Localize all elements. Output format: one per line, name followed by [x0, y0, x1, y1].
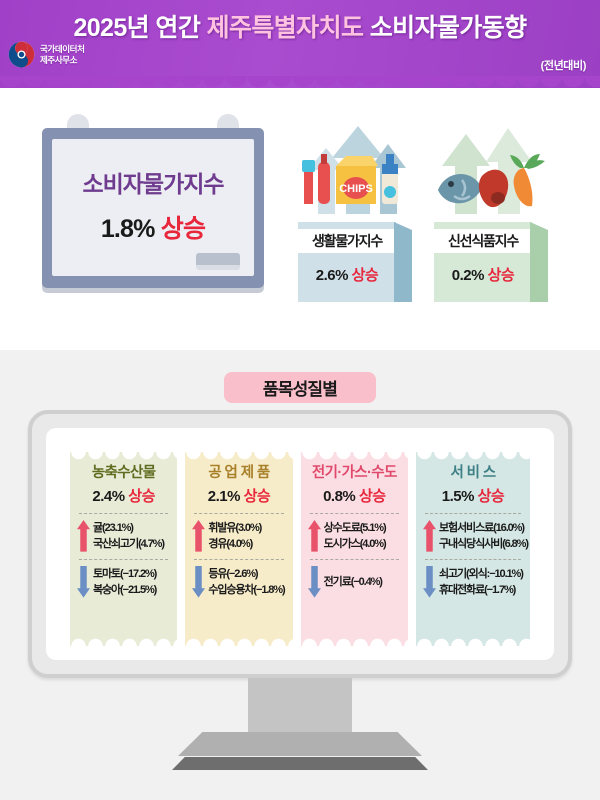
ticket-item-down: 수입승용차(−1.8%)	[208, 582, 287, 598]
page-title: 2025년 연간 제주특별자치도 소비자물가동향	[0, 8, 600, 44]
ticket-divider	[310, 559, 399, 560]
agency-office: 제주사무소	[40, 55, 85, 66]
arrow-down-icon	[423, 566, 436, 598]
monitor-base-top	[178, 732, 422, 756]
fresh-food-index-card: 신선식품지수 0.2% 상승	[432, 122, 550, 302]
arrow-up-icon	[192, 520, 205, 552]
ticket-title: 서 비 스	[421, 464, 525, 482]
living-price-bag: 생활물가지수 2.6% 상승	[298, 222, 412, 302]
ticket-value: 2.4%	[92, 488, 124, 505]
ticket-down-group: 쇠고기(외식:−10.1%)휴대전화료(−1.7%)	[421, 566, 525, 598]
infographic-page: 2025년 연간 제주특별자치도 소비자물가동향 국가데이터처 제주사무소 (전…	[0, 0, 600, 800]
ticket-direction: 상승	[359, 488, 386, 505]
ticket-title: 공 업 제 품	[190, 464, 287, 482]
ticket-down-items: 등유(−2.6%)수입승용차(−1.8%)	[208, 566, 287, 598]
ticket-item-down: 쇠고기(외식:−10.1%)	[439, 566, 525, 582]
ticket-down-items: 쇠고기(외식:−10.1%)휴대전화료(−1.7%)	[439, 566, 525, 598]
ticket-item-up: 상수도료(5.1%)	[324, 520, 403, 536]
ticket-direction: 상승	[478, 488, 505, 505]
ticket-value: 0.8%	[323, 488, 355, 505]
ticket-card: 서 비 스1.5% 상승보험서비스료(16.0%)구내식당식사비(6.8%)쇠고…	[416, 452, 530, 646]
ticket-down-group: 전기료(−0.4%)	[306, 566, 403, 598]
ticket-divider	[194, 513, 283, 514]
household-goods-icon: CHIPS	[296, 146, 414, 228]
ticket-item-up: 국산쇠고기(4.7%)	[93, 536, 172, 552]
living-price-label: 생활물가지수	[298, 229, 396, 253]
whiteboard-frame: 소비자물가지수 1.8% 상승	[42, 128, 264, 288]
ticket-item-down: 토마토(−17.2%)	[93, 566, 172, 582]
fresh-food-icon	[432, 146, 550, 228]
ticket-divider	[79, 513, 168, 514]
ticket-title: 농축수산물	[75, 464, 172, 482]
cpi-value-row: 1.8% 상승	[52, 209, 254, 245]
ticket-divider	[425, 559, 521, 560]
ticket-card: 농축수산물2.4% 상승귤(23.1%)국산쇠고기(4.7%)토마토(−17.2…	[70, 452, 177, 646]
arrow-up-icon	[77, 520, 90, 552]
ticket-up-items: 귤(23.1%)국산쇠고기(4.7%)	[93, 520, 172, 552]
ticket-up-items: 상수도료(5.1%)도시가스(4.0%)	[324, 520, 403, 552]
fresh-food-value-row: 0.2% 상승	[434, 264, 532, 285]
living-price-direction: 상승	[352, 267, 379, 284]
ticket-up-group: 상수도료(5.1%)도시가스(4.0%)	[306, 520, 403, 552]
living-price-bag-side	[394, 222, 412, 302]
ticket-card: 전기·가스·수도0.8% 상승상수도료(5.1%)도시가스(4.0%)전기료(−…	[301, 452, 408, 646]
ticket-item-down: 등유(−2.6%)	[208, 566, 287, 582]
ticket-divider	[310, 513, 399, 514]
cpi-whiteboard: 소비자물가지수 1.8% 상승	[42, 114, 264, 302]
arrow-up-icon	[423, 520, 436, 552]
living-price-index-card: CHIPS 생활물가지수 2.6% 상승	[296, 122, 414, 302]
comparison-note: (전년대비)	[541, 57, 586, 73]
arrow-up-icon	[308, 520, 321, 552]
svg-text:CHIPS: CHIPS	[339, 183, 373, 195]
ticket-divider	[425, 513, 521, 514]
page-header: 2025년 연간 제주특별자치도 소비자물가동향 국가데이터처 제주사무소 (전…	[0, 0, 600, 88]
ticket-item-up: 도시가스(4.0%)	[324, 536, 403, 552]
fresh-food-direction: 상승	[488, 267, 515, 284]
arrow-down-icon	[192, 566, 205, 598]
arrow-down-icon	[77, 566, 90, 598]
cpi-value: 1.8%	[101, 215, 155, 243]
item-breakdown-section: 품목성질별 농축수산물2.4% 상승귤(23.1%)국산쇠고기(4.7%)토마토…	[0, 350, 600, 800]
ticket-item-up: 휘발유(3.0%)	[208, 520, 287, 536]
monitor-screen: 농축수산물2.4% 상승귤(23.1%)국산쇠고기(4.7%)토마토(−17.2…	[46, 428, 554, 660]
ticket-down-items: 토마토(−17.2%)복숭아(−21.5%)	[93, 566, 172, 598]
ticket-rate: 0.8% 상승	[306, 485, 403, 506]
fresh-food-bag-front: 신선식품지수 0.2% 상승	[434, 222, 532, 302]
ticket-title: 전기·가스·수도	[306, 464, 403, 482]
ticket-down-group: 토마토(−17.2%)복숭아(−21.5%)	[75, 566, 172, 598]
agency-logo-text: 국가데이터처 제주사무소	[40, 44, 85, 66]
ticket-up-group: 보험서비스료(16.0%)구내식당식사비(6.8%)	[421, 520, 525, 552]
taegeuk-icon	[8, 41, 35, 68]
monitor-neck	[248, 678, 352, 734]
ticket-rate: 2.4% 상승	[75, 485, 172, 506]
ticket-value: 2.1%	[208, 488, 240, 505]
fresh-food-value: 0.2%	[452, 267, 484, 284]
arrow-down-icon	[308, 566, 321, 598]
ticket-item-down: 복숭아(−21.5%)	[93, 582, 172, 598]
ticket-down-items: 전기료(−0.4%)	[324, 574, 403, 590]
fresh-food-bag: 신선식품지수 0.2% 상승	[434, 222, 548, 302]
living-price-value-row: 2.6% 상승	[298, 264, 396, 285]
fresh-food-bag-side	[530, 222, 548, 302]
monitor-bezel: 농축수산물2.4% 상승귤(23.1%)국산쇠고기(4.7%)토마토(−17.2…	[28, 410, 572, 678]
living-price-value: 2.6%	[316, 267, 348, 284]
ticket-item-up: 구내식당식사비(6.8%)	[439, 536, 525, 552]
ticket-card: 공 업 제 품2.1% 상승휘발유(3.0%)경유(4.0%)등유(−2.6%)…	[185, 452, 292, 646]
page-title-post: 소비자물가동향	[363, 14, 526, 42]
ticket-list: 농축수산물2.4% 상승귤(23.1%)국산쇠고기(4.7%)토마토(−17.2…	[70, 452, 530, 646]
monitor-base-foot	[172, 757, 428, 770]
cpi-direction: 상승	[161, 215, 205, 243]
ticket-direction: 상승	[244, 488, 271, 505]
ticket-direction: 상승	[128, 488, 155, 505]
whiteboard-surface: 소비자물가지수 1.8% 상승	[52, 139, 254, 276]
ticket-item-up: 귤(23.1%)	[93, 520, 172, 536]
whiteboard-eraser-icon	[196, 253, 240, 270]
cpi-label: 소비자물가지수	[52, 165, 254, 199]
ticket-item-up: 보험서비스료(16.0%)	[439, 520, 525, 536]
ticket-up-group: 휘발유(3.0%)경유(4.0%)	[190, 520, 287, 552]
ticket-item-up: 경유(4.0%)	[208, 536, 287, 552]
headline-section: 소비자물가지수 1.8% 상승	[0, 88, 600, 350]
ticket-rate: 1.5% 상승	[421, 485, 525, 506]
ticket-item-down: 휴대전화료(−1.7%)	[439, 582, 525, 598]
ticket-divider	[79, 559, 168, 560]
ticket-up-items: 휘발유(3.0%)경유(4.0%)	[208, 520, 287, 552]
ticket-up-items: 보험서비스료(16.0%)구내식당식사비(6.8%)	[439, 520, 525, 552]
section-title-badge: 품목성질별	[224, 372, 376, 403]
living-price-bag-front: 생활물가지수 2.6% 상승	[298, 222, 396, 302]
ticket-up-group: 귤(23.1%)국산쇠고기(4.7%)	[75, 520, 172, 552]
ticket-value: 1.5%	[442, 488, 474, 505]
page-title-region: 제주특별자치도	[207, 14, 364, 42]
agency-name: 국가데이터처	[40, 44, 85, 55]
ticket-divider	[194, 559, 283, 560]
page-title-pre: 2025년 연간	[73, 14, 206, 42]
ticket-down-group: 등유(−2.6%)수입승용차(−1.8%)	[190, 566, 287, 598]
fresh-food-label: 신선식품지수	[434, 229, 532, 253]
ticket-rate: 2.1% 상승	[190, 485, 287, 506]
agency-logo: 국가데이터처 제주사무소	[8, 41, 85, 68]
ticket-item-down: 전기료(−0.4%)	[324, 574, 403, 590]
